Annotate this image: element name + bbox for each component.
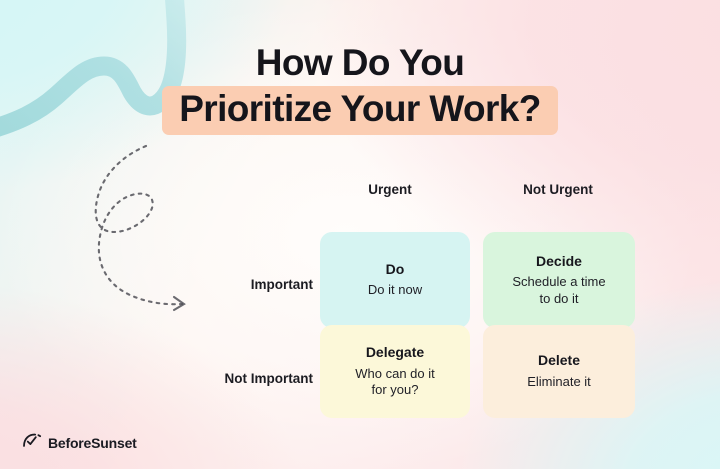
quadrant-delete-description: Eliminate it xyxy=(527,374,591,391)
matrix-row-not-important: Not Important Delegate Who can do it for… xyxy=(195,323,645,442)
column-header-not-urgent: Not Urgent xyxy=(483,182,633,197)
quadrant-delete-title: Delete xyxy=(538,352,580,370)
quadrant-do-title: Do xyxy=(386,261,405,279)
row-label-not-important: Not Important xyxy=(195,371,313,386)
matrix-row-important: Important Do Do it now Decide Schedule a… xyxy=(195,204,645,323)
quadrant-decide[interactable]: Decide Schedule a time to do it xyxy=(483,232,635,328)
title-line-2-wrapper: Prioritize Your Work? xyxy=(175,90,545,129)
quadrant-decide-description: Schedule a time to do it xyxy=(507,274,611,307)
quadrant-delegate[interactable]: Delegate Who can do it for you? xyxy=(320,325,470,418)
title-line-2: Prioritize Your Work? xyxy=(175,90,545,129)
quadrant-do-description: Do it now xyxy=(368,282,422,299)
column-header-urgent: Urgent xyxy=(315,182,465,197)
swoosh-check-icon xyxy=(22,432,43,453)
eisenhower-matrix: Urgent Not Urgent Important Do Do it now… xyxy=(195,182,645,442)
quadrant-do[interactable]: Do Do it now xyxy=(320,232,470,328)
quadrant-decide-title: Decide xyxy=(536,253,582,271)
quadrant-delete[interactable]: Delete Eliminate it xyxy=(483,325,635,418)
brand-logo[interactable]: BeforeSunset xyxy=(22,432,137,453)
quadrant-delegate-description: Who can do it for you? xyxy=(346,366,444,399)
matrix-column-headers: Urgent Not Urgent xyxy=(195,182,645,204)
row-label-important: Important xyxy=(195,277,313,292)
brand-logo-text: BeforeSunset xyxy=(48,435,137,451)
infographic-canvas: How Do You Prioritize Your Work? Urgent … xyxy=(0,0,720,469)
quadrant-delegate-title: Delegate xyxy=(366,344,424,362)
title-line-1: How Do You xyxy=(0,44,720,82)
page-title: How Do You Prioritize Your Work? xyxy=(0,44,720,129)
